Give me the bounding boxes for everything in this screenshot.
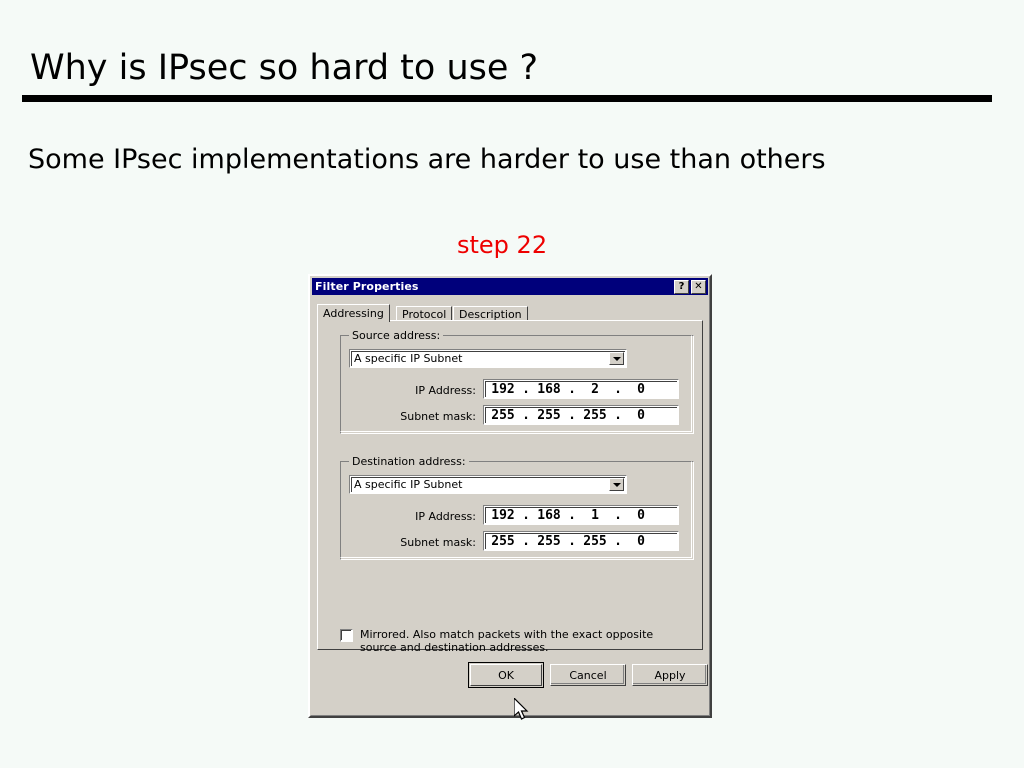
dot-2: .	[566, 508, 578, 523]
cancel-button-label: Cancel	[569, 669, 606, 682]
ok-button[interactable]: OK	[468, 662, 544, 688]
octet-3: 255	[578, 534, 612, 549]
destination-address-group: Destination address: A specific IP Subne…	[340, 461, 694, 560]
octet-4: 0	[624, 534, 658, 549]
dot-2: .	[566, 382, 578, 397]
destination-address-type-value: A specific IP Subnet	[354, 478, 462, 491]
octet-4: 0	[624, 382, 658, 397]
source-address-type-value: A specific IP Subnet	[354, 352, 462, 365]
source-address-legend: Source address:	[349, 329, 443, 342]
step-label: step 22	[457, 231, 547, 259]
octet-2: 168	[532, 508, 566, 523]
octet-2: 168	[532, 382, 566, 397]
chevron-down-icon[interactable]	[609, 478, 624, 491]
cancel-button[interactable]: Cancel	[550, 664, 626, 686]
slide-canvas: Why is IPsec so hard to use ? Some IPsec…	[0, 0, 1024, 768]
dot-3: .	[612, 408, 624, 423]
tab-strip: Addressing Protocol Description	[317, 304, 703, 321]
destination-address-type-combo[interactable]: A specific IP Subnet	[349, 475, 627, 494]
apply-button[interactable]: Apply	[632, 664, 708, 686]
help-icon[interactable]: ?	[674, 280, 689, 294]
octet-3: 2	[578, 382, 612, 397]
source-ip-address-octets: 192 . 168 . 2 . 0	[486, 381, 676, 397]
tab-addressing[interactable]: Addressing	[317, 304, 390, 322]
dot-3: .	[612, 508, 624, 523]
dot-1: .	[520, 534, 532, 549]
dot-1: .	[520, 508, 532, 523]
octet-1: 192	[486, 508, 520, 523]
page-title: Why is IPsec so hard to use ?	[30, 48, 538, 88]
ok-button-label: OK	[498, 669, 514, 682]
destination-subnet-mask-field[interactable]: 255 . 255 . 255 . 0	[483, 531, 679, 551]
octet-1: 192	[486, 382, 520, 397]
source-subnet-mask-octets: 255 . 255 . 255 . 0	[486, 407, 676, 423]
destination-ip-address-field[interactable]: 192 . 168 . 1 . 0	[483, 505, 679, 525]
title-divider	[22, 95, 992, 102]
source-subnet-mask-field[interactable]: 255 . 255 . 255 . 0	[483, 405, 679, 425]
apply-button-label: Apply	[654, 669, 685, 682]
arrow-glyph	[613, 357, 621, 361]
dot-1: .	[520, 408, 532, 423]
octet-3: 1	[578, 508, 612, 523]
source-address-group: Source address: A specific IP Subnet IP …	[340, 335, 694, 434]
tab-protocol[interactable]: Protocol	[396, 306, 452, 321]
destination-subnet-mask-octets: 255 . 255 . 255 . 0	[486, 533, 676, 549]
octet-3: 255	[578, 408, 612, 423]
dialog-title-text: Filter Properties	[315, 280, 674, 293]
destination-ip-address-label: IP Address:	[386, 510, 476, 523]
dot-2: .	[566, 534, 578, 549]
slide-subtitle: Some IPsec implementations are harder to…	[28, 144, 826, 175]
mirrored-checkbox-label: Mirrored. Also match packets with the ex…	[360, 628, 680, 654]
dot-3: .	[612, 534, 624, 549]
filter-properties-dialog: Filter Properties ? ✕ Addressing Protoco…	[308, 274, 712, 718]
chevron-down-icon[interactable]	[609, 352, 624, 365]
destination-ip-address-octets: 192 . 168 . 1 . 0	[486, 507, 676, 523]
octet-1: 255	[486, 408, 520, 423]
source-ip-address-field[interactable]: 192 . 168 . 2 . 0	[483, 379, 679, 399]
source-subnet-mask-label: Subnet mask:	[366, 410, 476, 423]
dot-3: .	[612, 382, 624, 397]
octet-4: 0	[624, 508, 658, 523]
source-ip-address-label: IP Address:	[386, 384, 476, 397]
dialog-titlebar[interactable]: Filter Properties ? ✕	[312, 278, 708, 295]
destination-address-legend: Destination address:	[349, 455, 469, 468]
source-address-type-combo[interactable]: A specific IP Subnet	[349, 349, 627, 368]
octet-2: 255	[532, 408, 566, 423]
dot-1: .	[520, 382, 532, 397]
destination-subnet-mask-label: Subnet mask:	[366, 536, 476, 549]
mirrored-checkbox[interactable]	[340, 629, 353, 642]
octet-1: 255	[486, 534, 520, 549]
dot-2: .	[566, 408, 578, 423]
octet-2: 255	[532, 534, 566, 549]
octet-4: 0	[624, 408, 658, 423]
addressing-tab-panel: Source address: A specific IP Subnet IP …	[317, 320, 703, 650]
dialog-button-bar: OK Cancel Apply	[310, 656, 710, 696]
close-icon[interactable]: ✕	[691, 280, 706, 294]
arrow-glyph	[613, 483, 621, 487]
mirrored-checkbox-row[interactable]: Mirrored. Also match packets with the ex…	[340, 628, 690, 654]
tab-description[interactable]: Description	[453, 306, 528, 321]
